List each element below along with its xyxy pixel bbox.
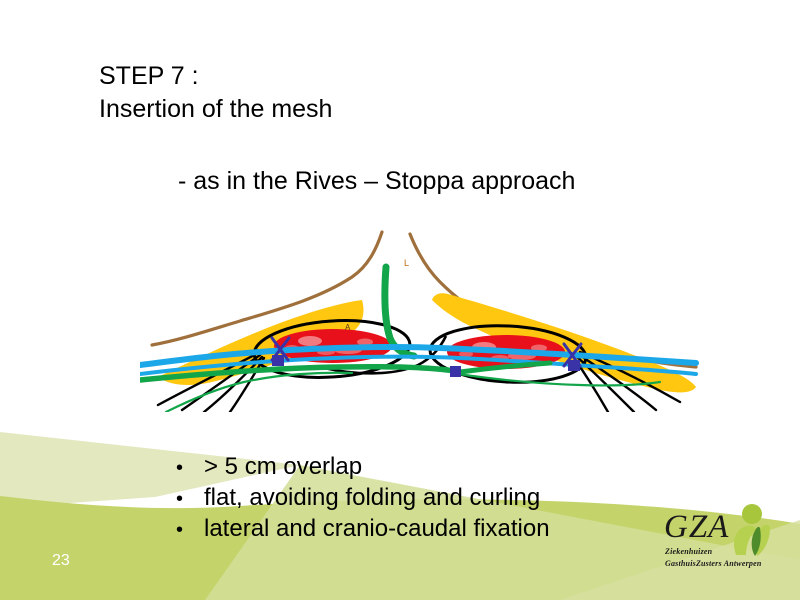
gza-logo: GZA Ziekenhuizen GasthuisZusters Antwerp… xyxy=(664,503,794,581)
logo-head-icon xyxy=(742,504,762,524)
bullet-text: lateral and cranio-caudal fixation xyxy=(204,514,550,544)
annotation-label-center: L xyxy=(404,258,409,268)
logo-person-leaf-icon xyxy=(726,503,774,557)
list-item: • flat, avoiding folding and curling xyxy=(176,483,550,514)
page-number: 23 xyxy=(52,552,70,570)
list-item: • > 5 cm overlap xyxy=(176,452,550,483)
title-line-1: STEP 7 : xyxy=(99,60,332,93)
logo-subtitle-2: GasthuisZusters Antwerpen xyxy=(665,559,762,568)
logo-wordmark: GZA xyxy=(664,509,729,546)
bullet-text: > 5 cm overlap xyxy=(204,452,362,482)
title-subtitle: - as in the Rives – Stoppa approach xyxy=(178,165,575,198)
logo-subtitle-1: Ziekenhuizen xyxy=(665,547,712,556)
bullet-marker: • xyxy=(176,453,204,483)
fixation-square-marker xyxy=(450,366,461,377)
bullet-text: flat, avoiding folding and curling xyxy=(204,483,540,513)
bullet-marker: • xyxy=(176,484,204,514)
title-line-2: Insertion of the mesh xyxy=(99,93,332,126)
annotation-label-left: A xyxy=(345,323,351,332)
bullet-marker: • xyxy=(176,515,204,545)
page-title: STEP 7 : Insertion of the mesh xyxy=(99,60,332,126)
fixation-block-left xyxy=(272,355,284,366)
slide-canvas: STEP 7 : Insertion of the mesh - as in t… xyxy=(0,0,800,600)
abdominal-wall-diagram: A L xyxy=(140,222,700,412)
list-item: • lateral and cranio-caudal fixation xyxy=(176,514,550,545)
bullet-list: • > 5 cm overlap • flat, avoiding foldin… xyxy=(176,452,550,545)
fixation-block-right xyxy=(568,360,580,371)
